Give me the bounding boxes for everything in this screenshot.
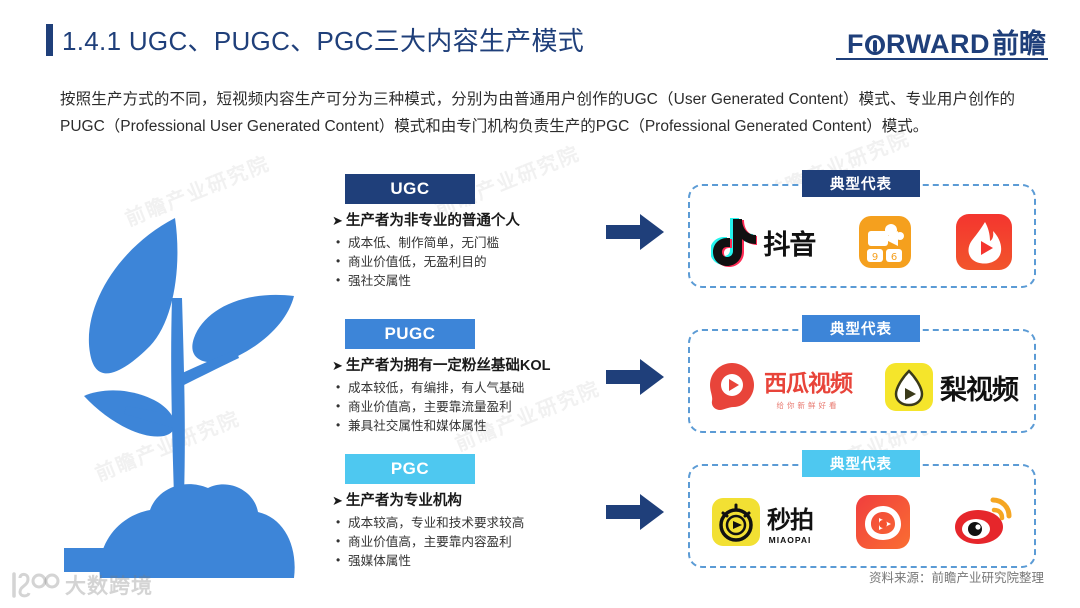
description-ugc: ➤生产者为非专业的普通个人 成本低、制作简单，无门槛 商业价值低，无盈利目的 强…: [332, 210, 602, 291]
svg-text:6: 6: [891, 252, 897, 263]
list-item: 商业价值高，主要靠流量盈利: [332, 398, 602, 417]
brand-underline: [836, 58, 1048, 60]
logo-lishipin: 梨视频: [884, 362, 1018, 412]
logo-miaopai-sublabel: MIAOPAI: [769, 535, 812, 545]
logo-xigua: 西瓜视频 给你新鲜好看: [706, 361, 852, 413]
list-item: 成本较低，有编排，有人气基础: [332, 379, 602, 398]
flow-arrow-icon: [604, 492, 666, 532]
slide-canvas: 前瞻产业研究院 前瞻产业研究院 前瞻产业研究院 前瞻产业研究院 前瞻产业研究院 …: [0, 0, 1080, 608]
lead-line-ugc: ➤生产者为非专业的普通个人: [332, 210, 602, 232]
forward-logo: F RWARD 前瞻: [847, 22, 1046, 61]
category-chip-ugc: UGC: [345, 174, 475, 204]
panel-label-pugc: 典型代表: [802, 315, 920, 342]
lead-line-pgc: ➤生产者为专业机构: [332, 490, 602, 512]
list-item: 商业价值低，无盈利目的: [332, 253, 602, 272]
logo-strip-pgc: 秒拍 MIAOPAI: [690, 480, 1034, 564]
logo-strip-pugc: 西瓜视频 给你新鲜好看 梨视频: [690, 345, 1034, 429]
intro-paragraph: 按照生产方式的不同，短视频内容生产可分为三种模式，分别为由普通用户创作的UGC（…: [60, 86, 1015, 140]
logo-miaopai-text: 秒拍 MIAOPAI: [767, 500, 813, 545]
logo-xigua-label: 西瓜视频: [764, 364, 852, 398]
flow-arrow-icon: [604, 212, 666, 252]
flow-arrow-icon: [604, 357, 666, 397]
page-title: 1.4.1 UGC、PUGC、PGC三大内容生产模式: [62, 21, 584, 58]
logo-lishipin-label: 梨视频: [940, 368, 1018, 407]
logo-huoshan: [955, 213, 1013, 271]
footer-blue-swatch: [64, 548, 184, 572]
bottom-watermark-logo: 大数跨境: [8, 570, 153, 600]
huoshan-icon: [955, 213, 1013, 271]
panel-label-pgc: 典型代表: [802, 450, 920, 477]
logo-weishi: [855, 494, 911, 550]
list-item: 强社交属性: [332, 272, 602, 291]
bullet-arrow-icon: ➤: [332, 490, 343, 511]
source-note: 资料来源：前瞻产业研究院整理: [869, 567, 1044, 586]
logo-douyin: 抖音: [711, 217, 815, 267]
logo-strip-ugc: 抖音 9 6: [690, 200, 1034, 284]
category-chip-pugc: PUGC: [345, 319, 475, 349]
dashu-logo-icon: [8, 570, 60, 600]
bullet-arrow-icon: ➤: [332, 355, 343, 376]
slide-header: 1.4.1 UGC、PUGC、PGC三大内容生产模式 F RWARD 前瞻: [0, 0, 1080, 72]
weibo-icon: [953, 496, 1013, 548]
logo-xigua-text: 西瓜视频 给你新鲜好看: [764, 364, 852, 411]
dashu-logo-label: 大数跨境: [65, 570, 153, 600]
bullet-arrow-icon: ➤: [332, 210, 343, 231]
mode-row-ugc: UGC ➤生产者为非专业的普通个人 成本低、制作简单，无门槛 商业价值低，无盈利…: [0, 170, 1080, 305]
lead-line-pugc: ➤生产者为拥有一定粉丝基础KOL: [332, 355, 602, 377]
bullet-list-pgc: 成本较高，专业和技术要求较高 商业价值高，主要靠内容盈利 强媒体属性: [332, 514, 602, 571]
mode-row-pugc: PUGC ➤生产者为拥有一定粉丝基础KOL 成本较低，有编排，有人气基础 商业价…: [0, 315, 1080, 450]
xigua-icon: [706, 361, 758, 413]
logo-douyin-label: 抖音: [763, 223, 815, 262]
logo-miaopai: 秒拍 MIAOPAI: [711, 497, 813, 547]
panel-label-ugc: 典型代表: [802, 170, 920, 197]
description-pugc: ➤生产者为拥有一定粉丝基础KOL 成本较低，有编排，有人气基础 商业价值高，主要…: [332, 355, 602, 436]
logo-xigua-tagline: 给你新鲜好看: [777, 400, 840, 411]
list-item: 成本低、制作简单，无门槛: [332, 234, 602, 253]
logo-weibo: [953, 496, 1013, 548]
description-pgc: ➤生产者为专业机构 成本较高，专业和技术要求较高 商业价值高，主要靠内容盈利 强…: [332, 490, 602, 571]
bullet-list-pugc: 成本较低，有编排，有人气基础 商业价值高，主要靠流量盈利 兼具社交属性和媒体属性: [332, 379, 602, 436]
lishipin-icon: [884, 362, 934, 412]
logo-miaopai-label: 秒拍: [767, 500, 813, 535]
kuaishou-icon: 9 6: [858, 215, 912, 269]
douyin-icon: [711, 217, 757, 267]
bullet-list-ugc: 成本低、制作简单，无门槛 商业价值低，无盈利目的 强社交属性: [332, 234, 602, 291]
list-item: 成本较高，专业和技术要求较高: [332, 514, 602, 533]
weishi-icon: [855, 494, 911, 550]
brand-o-icon: [865, 35, 885, 55]
list-item: 兼具社交属性和媒体属性: [332, 417, 602, 436]
brand-cn: 前瞻: [992, 22, 1046, 61]
miaopai-icon: [711, 497, 761, 547]
category-chip-pgc: PGC: [345, 454, 475, 484]
svg-text:9: 9: [872, 252, 878, 263]
title-accent-bar: [46, 24, 53, 56]
list-item: 强媒体属性: [332, 552, 602, 571]
list-item: 商业价值高，主要靠内容盈利: [332, 533, 602, 552]
brand-latin-f: F: [847, 29, 864, 60]
brand-latin-rest: RWARD: [886, 29, 990, 60]
logo-kuaishou: 9 6: [858, 215, 912, 269]
